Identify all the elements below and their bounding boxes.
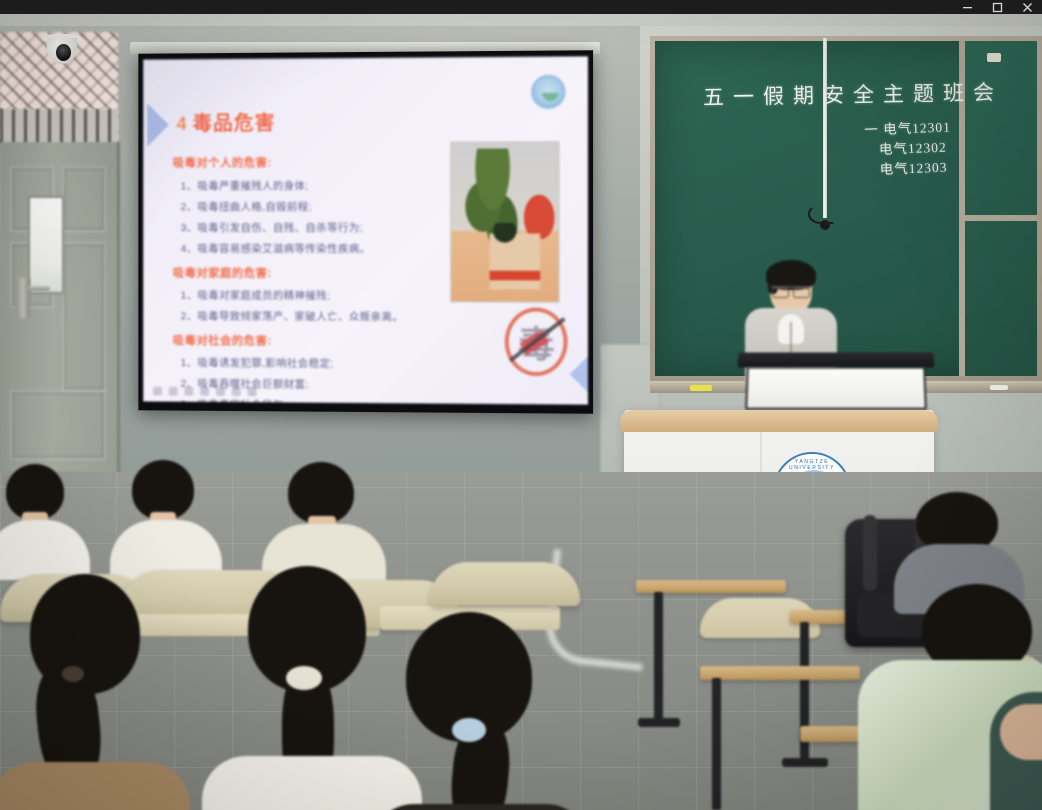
maximize-button[interactable] [982, 0, 1012, 14]
blackboard-class-list: 一 电气12301 电气12302 电气12303 [864, 118, 953, 181]
slide-bullet: 1、吸毒严重摧残人的身体; [181, 178, 309, 193]
maximize-icon [992, 2, 1003, 13]
desk-leg [654, 592, 663, 722]
ppt-next-icon[interactable] [248, 387, 257, 396]
microphone-icon [816, 210, 834, 228]
chalk-white [990, 385, 1008, 390]
desk-leg [712, 678, 721, 810]
close-button[interactable] [1012, 0, 1042, 14]
projector-screen: 4毒品危害 吸毒对个人的危害: 1、吸毒严重摧残人的身体; 2、吸毒扭曲人格,自… [138, 50, 593, 414]
lectern-monitor [745, 367, 927, 410]
blackboard-class-line: 电气12302 [879, 137, 952, 160]
hair-tie [286, 666, 322, 690]
addict-figure [490, 223, 541, 289]
desk-foot [782, 758, 828, 767]
minimize-button[interactable] [952, 0, 982, 14]
chevron-right-decoration [570, 348, 588, 401]
door-handle[interactable] [16, 278, 30, 318]
monitor-top-edge [738, 352, 935, 367]
bench-seat [430, 562, 580, 606]
slide-bullet: 3、吸毒毒害社会风气。 [181, 397, 295, 405]
blackboard-frame: 五一假期安全主题班会 一 电气12301 电气12302 电气12303 [650, 36, 1042, 381]
student-head [288, 462, 354, 524]
chalk-eraser [987, 53, 1001, 62]
chalk-yellow [690, 385, 712, 391]
anti-drug-seal-icon: 毒 [505, 307, 568, 376]
presenter-glasses-icon [771, 286, 811, 294]
photo-viewer-window: 4毒品危害 吸毒对个人的危害: 1、吸毒严重摧残人的身体; 2、吸毒扭曲人格,自… [0, 0, 1042, 810]
chevron-left-decoration [147, 103, 169, 147]
ppt-pen-icon[interactable] [185, 387, 194, 396]
slide-section-heading: 吸毒对社会的危害: [173, 332, 272, 348]
student-foreground [390, 612, 580, 810]
student-shirt [0, 520, 90, 580]
desk [700, 666, 860, 680]
slide-illustration [450, 141, 559, 302]
backpack-strap [863, 515, 877, 591]
student-foreground [230, 566, 410, 810]
blackboard-surface: 五一假期安全主题班会 一 电气12301 电气12302 电气12303 [655, 41, 1037, 376]
student-shirt [0, 762, 190, 810]
lectern-top-surface [620, 410, 938, 432]
slide-bullet: 4、吸毒容易感染艾滋病等传染性疾病。 [181, 241, 371, 256]
blackboard: 五一假期安全主题班会 一 电气12301 电气12302 电气12303 [650, 36, 1042, 381]
powerpoint-toolbar[interactable] [153, 387, 257, 397]
close-icon [1022, 2, 1033, 13]
ppt-zoom-icon[interactable] [216, 387, 225, 396]
slide-bullet: 1、吸毒诱发犯罪,影响社会稳定; [181, 355, 334, 371]
student-head [132, 460, 194, 520]
student-seated [126, 460, 216, 580]
blackboard-title: 五一假期安全主题班会 [703, 76, 1003, 111]
student-foreground [990, 682, 1042, 810]
hair-tie [452, 718, 486, 742]
minimize-icon [962, 2, 973, 13]
slide-bullet: 2、吸毒导致倾家荡产、家破人亡、众叛亲离。 [181, 308, 404, 324]
door-panel [62, 242, 106, 392]
student-seated [0, 464, 80, 574]
slide-title-text: 毒品危害 [192, 112, 275, 134]
ppt-previous-icon[interactable] [153, 387, 162, 396]
slide-bullet: 1、吸毒对家庭成员的精神摧残; [181, 288, 331, 303]
presentation-slide: 4毒品危害 吸毒对个人的危害: 1、吸毒严重摧残人的身体; 2、吸毒扭曲人格,自… [143, 56, 588, 404]
slide-number: 4 [177, 114, 188, 134]
university-logo-watermark [531, 75, 566, 109]
student-shirt [370, 804, 590, 810]
student-foreground [10, 574, 160, 810]
slide-bullet: 2、吸毒扭曲人格,自毁前程; [181, 199, 312, 214]
slide-title: 4毒品危害 [177, 106, 276, 135]
window-titlebar [0, 0, 1042, 14]
slide-section-heading: 吸毒对家庭的危害: [173, 265, 272, 281]
slide-bullet: 3、吸毒引发自伤、自残、自杀等行为; [181, 220, 363, 235]
classroom-photo: 4毒品危害 吸毒对个人的危害: 1、吸毒严重摧残人的身体; 2、吸毒扭曲人格,自… [0, 14, 1042, 810]
microphone-pole [823, 38, 827, 218]
ppt-slides-icon[interactable] [200, 387, 209, 396]
door-window [28, 196, 64, 294]
ppt-pointer-icon[interactable] [169, 387, 178, 396]
ppt-more-icon[interactable] [232, 387, 241, 396]
desk-foot [638, 718, 680, 727]
ceiling-strip [0, 14, 1042, 26]
student-shirt [202, 756, 422, 810]
door-panel [62, 166, 106, 232]
camera-lens-icon [56, 44, 71, 61]
slide-section-heading: 吸毒对个人的危害: [173, 154, 272, 170]
blackboard-class-line: 电气12303 [879, 157, 952, 180]
student-seated [282, 462, 376, 582]
window-grille-lower [0, 109, 118, 145]
door-panel [10, 390, 106, 460]
hair-tie [62, 666, 84, 682]
